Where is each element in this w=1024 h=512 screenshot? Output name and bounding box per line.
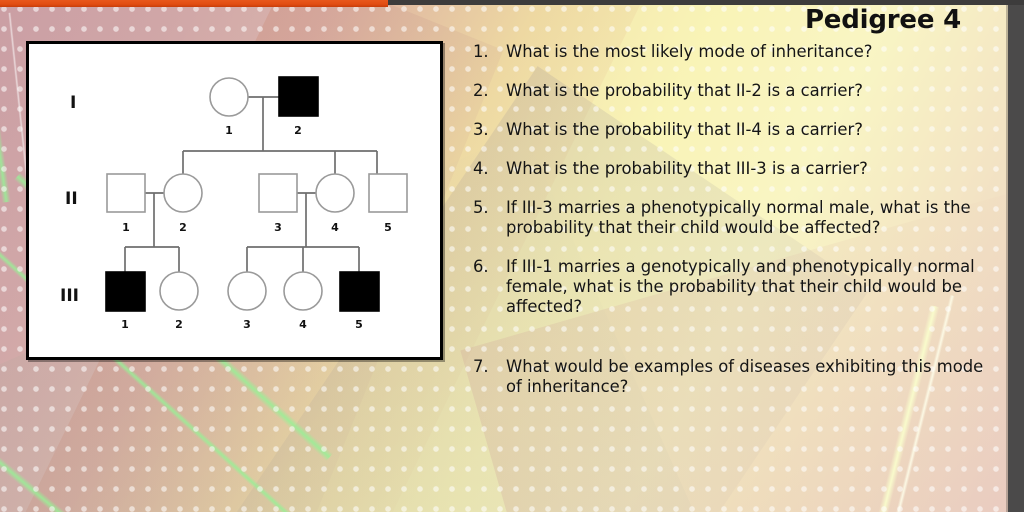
- generation-label-i: I: [70, 93, 76, 113]
- question-text: If III-3 marries a phenotypically normal…: [506, 198, 1000, 238]
- pedigree-symbol-iii-1[interactable]: [106, 272, 145, 311]
- window-chrome-strip: [388, 0, 1024, 5]
- pedigree-id-ii-3: 3: [274, 221, 282, 234]
- pedigree-id-iii-4: 4: [299, 318, 307, 331]
- pedigree-id-ii-2: 2: [179, 221, 187, 234]
- list-item: 4. What is the probability that III-3 is…: [466, 159, 1000, 179]
- pedigree-symbol-iii-2[interactable]: [160, 272, 198, 310]
- question-text: If III-1 marries a genotypically and phe…: [506, 257, 1000, 317]
- list-item: 7. What would be examples of diseases ex…: [466, 357, 1000, 397]
- pedigree-symbol-i-1[interactable]: [210, 78, 248, 116]
- pedigree-symbol-ii-3[interactable]: [259, 174, 297, 212]
- pedigree-symbol-iii-3[interactable]: [228, 272, 266, 310]
- slide-root: I II III: [0, 0, 1024, 512]
- question-number: 7.: [466, 357, 506, 377]
- pedigree-symbol-ii-2[interactable]: [164, 174, 202, 212]
- question-number: 6.: [466, 257, 506, 277]
- pedigree-id-ii-5: 5: [384, 221, 392, 234]
- question-text: What is the most likely mode of inherita…: [506, 42, 1000, 62]
- generation-label-iii: III: [60, 286, 79, 306]
- pedigree-id-iii-2: 2: [175, 318, 183, 331]
- pedigree-chart-card: I II III: [26, 41, 443, 360]
- pedigree-symbol-i-2[interactable]: [279, 77, 318, 116]
- question-text: What is the probability that II-2 is a c…: [506, 81, 1000, 101]
- question-number: 2.: [466, 81, 506, 101]
- pedigree-id-iii-3: 3: [243, 318, 251, 331]
- application-title-bar[interactable]: [0, 0, 388, 7]
- pedigree-symbol-ii-5[interactable]: [369, 174, 407, 212]
- pedigree-symbol-iii-4[interactable]: [284, 272, 322, 310]
- question-number: 5.: [466, 198, 506, 218]
- pedigree-id-iii-1: 1: [121, 318, 129, 331]
- pedigree-id-ii-1: 1: [122, 221, 130, 234]
- question-number: 1.: [466, 42, 506, 62]
- pedigree-id-ii-4: 4: [331, 221, 339, 234]
- green-accent-stripe: [0, 5, 11, 203]
- list-item: 3. What is the probability that II-4 is …: [466, 120, 1000, 140]
- question-text: What is the probability that II-4 is a c…: [506, 120, 1000, 140]
- pedigree-diagram: I II III: [29, 44, 434, 351]
- list-item: 6. If III-1 marries a genotypically and …: [466, 257, 1000, 317]
- pedigree-symbol-iii-5[interactable]: [340, 272, 379, 311]
- pedigree-id-i-2: 2: [294, 124, 302, 137]
- question-panel: Pedigree 4 1. What is the most likely mo…: [462, 0, 1007, 512]
- pedigree-id-i-1: 1: [225, 124, 233, 137]
- window-right-gutter: [1008, 0, 1024, 512]
- green-accent-stripe: [0, 428, 196, 512]
- pedigree-id-iii-5: 5: [355, 318, 363, 331]
- generation-label-ii: II: [65, 189, 78, 209]
- pedigree-symbol-ii-1[interactable]: [107, 174, 145, 212]
- question-number: 4.: [466, 159, 506, 179]
- pedigree-symbol-ii-4[interactable]: [316, 174, 354, 212]
- question-text: What would be examples of diseases exhib…: [506, 357, 1000, 397]
- list-item: 2. What is the probability that II-2 is …: [466, 81, 1000, 101]
- question-list: 1. What is the most likely mode of inher…: [466, 42, 1000, 416]
- page-title: Pedigree 4: [805, 5, 961, 35]
- question-text: What is the probability that III-3 is a …: [506, 159, 1000, 179]
- list-item: 1. What is the most likely mode of inher…: [466, 42, 1000, 62]
- list-item: 5. If III-3 marries a phenotypically nor…: [466, 198, 1000, 238]
- question-number: 3.: [466, 120, 506, 140]
